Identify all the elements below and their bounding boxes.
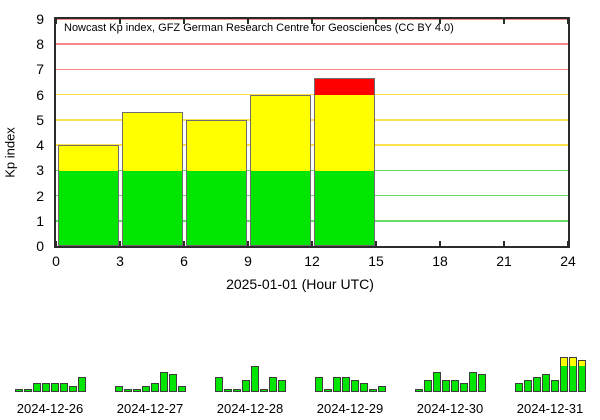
- bar: [186, 120, 247, 246]
- sparkline-panel: 2024-12-30: [400, 320, 500, 420]
- gridline-6: [56, 94, 568, 96]
- sparkline-bar: [269, 377, 277, 392]
- sparkline-panel: 2024-12-26: [0, 320, 100, 420]
- y-tick-7: 7: [8, 62, 44, 76]
- sparkline-date-label: 2024-12-26: [0, 401, 100, 416]
- sparkline-bar: [360, 383, 368, 392]
- bar-segment-active: [187, 120, 246, 171]
- x-tick-24: 24: [548, 253, 588, 269]
- sparkline-bar: [315, 377, 323, 392]
- bar-segment-active: [251, 95, 310, 171]
- sparkline-bar: [78, 377, 86, 392]
- sparkline-panel: 2024-12-29: [300, 320, 400, 420]
- x-tickmark-0: [55, 241, 57, 248]
- x-tickmark-top-9: [247, 17, 249, 24]
- bar-segment-quiet: [315, 169, 374, 246]
- x-tickmark-top-21: [503, 17, 505, 24]
- bar-segment-active: [59, 145, 118, 171]
- sparkline-bar: [442, 380, 450, 392]
- y-tick-3: 3: [8, 163, 44, 177]
- x-tick-15: 15: [356, 253, 396, 269]
- sparkline-bar: [369, 389, 377, 392]
- sparkline-bar: [51, 383, 59, 392]
- sparkline-plot: [211, 348, 289, 392]
- sparkline-bar: [233, 389, 241, 392]
- sparkline-bar: [524, 380, 532, 392]
- sparkline-bar: [278, 380, 286, 392]
- x-tick-0: 0: [36, 253, 76, 269]
- sparkline-bar: [260, 389, 268, 392]
- sparkline-panel: 2024-12-27: [100, 320, 200, 420]
- bar: [122, 112, 183, 246]
- sparkline-date-label: 2024-12-28: [200, 401, 300, 416]
- y-tick-8: 8: [8, 37, 44, 51]
- x-tickmark-top-6: [183, 17, 185, 24]
- x-tickmark-9: [247, 241, 249, 248]
- sparkline-bar: [542, 374, 550, 392]
- x-tickmark-15: [375, 241, 377, 248]
- sparkline-bar: [160, 372, 168, 393]
- y-tick-2: 2: [8, 189, 44, 203]
- sparkline-bar: [333, 377, 341, 392]
- main-chart: Kp index 0123456789 03691215182124 Nowca…: [0, 0, 600, 310]
- sparkline-bar: [515, 383, 523, 392]
- x-tickmark-18: [439, 241, 441, 248]
- bar-segment-quiet: [123, 169, 182, 246]
- bar-segment-active: [315, 93, 374, 171]
- x-tick-9: 9: [228, 253, 268, 269]
- sparkline-bar: [469, 372, 477, 393]
- x-tick-6: 6: [164, 253, 204, 269]
- sparkline-date-label: 2024-12-31: [500, 401, 600, 416]
- x-tickmark-top-0: [55, 17, 57, 24]
- sparkline-panel: 2024-12-31: [500, 320, 600, 420]
- x-tick-21: 21: [484, 253, 524, 269]
- bar-segment-active: [123, 112, 182, 171]
- sparkline-bar: [433, 372, 441, 393]
- sparkline-bar: [33, 383, 41, 392]
- sparkline-bar: [560, 357, 568, 392]
- sparkline-bar: [42, 383, 50, 392]
- sparkline-bar: [378, 386, 386, 392]
- sparkline-plot: [11, 348, 89, 392]
- x-tick-18: 18: [420, 253, 460, 269]
- sparkline-bar-active-top: [561, 358, 567, 366]
- bar-segment-quiet: [251, 169, 310, 246]
- x-tickmark-21: [503, 241, 505, 248]
- sparkline-bar: [15, 389, 23, 392]
- sparkline-plot: [111, 348, 189, 392]
- sparkline-plot: [411, 348, 489, 392]
- y-tick-9: 9: [8, 12, 44, 26]
- sparkline-bar: [324, 389, 332, 392]
- sparkline-bar: [351, 380, 359, 392]
- sparkline-bar: [478, 374, 486, 392]
- sparkline-bar: [415, 389, 423, 392]
- sparkline-bar: [142, 386, 150, 392]
- x-tickmark-top-24: [567, 17, 569, 24]
- sparkline-row: 2024-12-262024-12-272024-12-282024-12-29…: [0, 320, 600, 420]
- sparkline-bar: [178, 386, 186, 392]
- sparkline-plot: [511, 348, 589, 392]
- sparkline-bar: [133, 389, 141, 392]
- gridline-7: [56, 69, 568, 71]
- x-tickmark-24: [567, 241, 569, 248]
- x-tickmark-3: [119, 241, 121, 248]
- y-tick-6: 6: [8, 88, 44, 102]
- sparkline-bar: [69, 386, 77, 392]
- sparkline-bar-active-top: [570, 358, 576, 366]
- bar: [250, 95, 311, 246]
- plot-area: Nowcast Kp index, GFZ German Research Ce…: [54, 17, 570, 248]
- sparkline-panel: 2024-12-28: [200, 320, 300, 420]
- sparkline-bar: [342, 377, 350, 392]
- bar-segment-quiet: [59, 169, 118, 246]
- sparkline-date-label: 2024-12-30: [400, 401, 500, 416]
- sparkline-bar: [124, 389, 132, 392]
- bar: [314, 78, 375, 246]
- sparkline-bar: [551, 380, 559, 392]
- x-tickmark-top-12: [311, 17, 313, 24]
- x-tick-3: 3: [100, 253, 140, 269]
- sparkline-plot: [311, 348, 389, 392]
- sparkline-date-label: 2024-12-29: [300, 401, 400, 416]
- sparkline-bar: [224, 389, 232, 392]
- x-tick-12: 12: [292, 253, 332, 269]
- x-tickmark-top-15: [375, 17, 377, 24]
- sparkline-bar: [251, 366, 259, 392]
- plot-inner: [56, 19, 568, 246]
- sparkline-date-label: 2024-12-27: [100, 401, 200, 416]
- sparkline-bar: [215, 377, 223, 392]
- x-tickmark-top-3: [119, 17, 121, 24]
- x-axis-label: 2025-01-01 (Hour UTC): [0, 276, 600, 292]
- sparkline-bar: [60, 383, 68, 392]
- y-tick-0: 0: [8, 239, 44, 253]
- x-tickmark-6: [183, 241, 185, 248]
- sparkline-bar: [533, 377, 541, 392]
- sparkline-bar: [115, 386, 123, 392]
- sparkline-bar: [151, 383, 159, 392]
- bar-segment-quiet: [187, 169, 246, 246]
- sparkline-bar: [242, 380, 250, 392]
- sparkline-bar: [569, 357, 577, 392]
- bar-segment-storm: [315, 78, 374, 95]
- x-tickmark-top-18: [439, 17, 441, 24]
- x-tickmark-12: [311, 241, 313, 248]
- y-tick-1: 1: [8, 214, 44, 228]
- y-tick-4: 4: [8, 138, 44, 152]
- sparkline-bar: [460, 383, 468, 392]
- gridline-8: [56, 43, 568, 45]
- sparkline-bar: [451, 380, 459, 392]
- sparkline-bar: [578, 360, 586, 392]
- y-tick-5: 5: [8, 113, 44, 127]
- sparkline-bar: [424, 380, 432, 392]
- chart-title: Nowcast Kp index, GFZ German Research Ce…: [64, 22, 454, 34]
- sparkline-bar: [24, 389, 32, 392]
- bar: [58, 145, 119, 246]
- sparkline-bar-active-top: [579, 361, 585, 367]
- sparkline-bar: [169, 374, 177, 392]
